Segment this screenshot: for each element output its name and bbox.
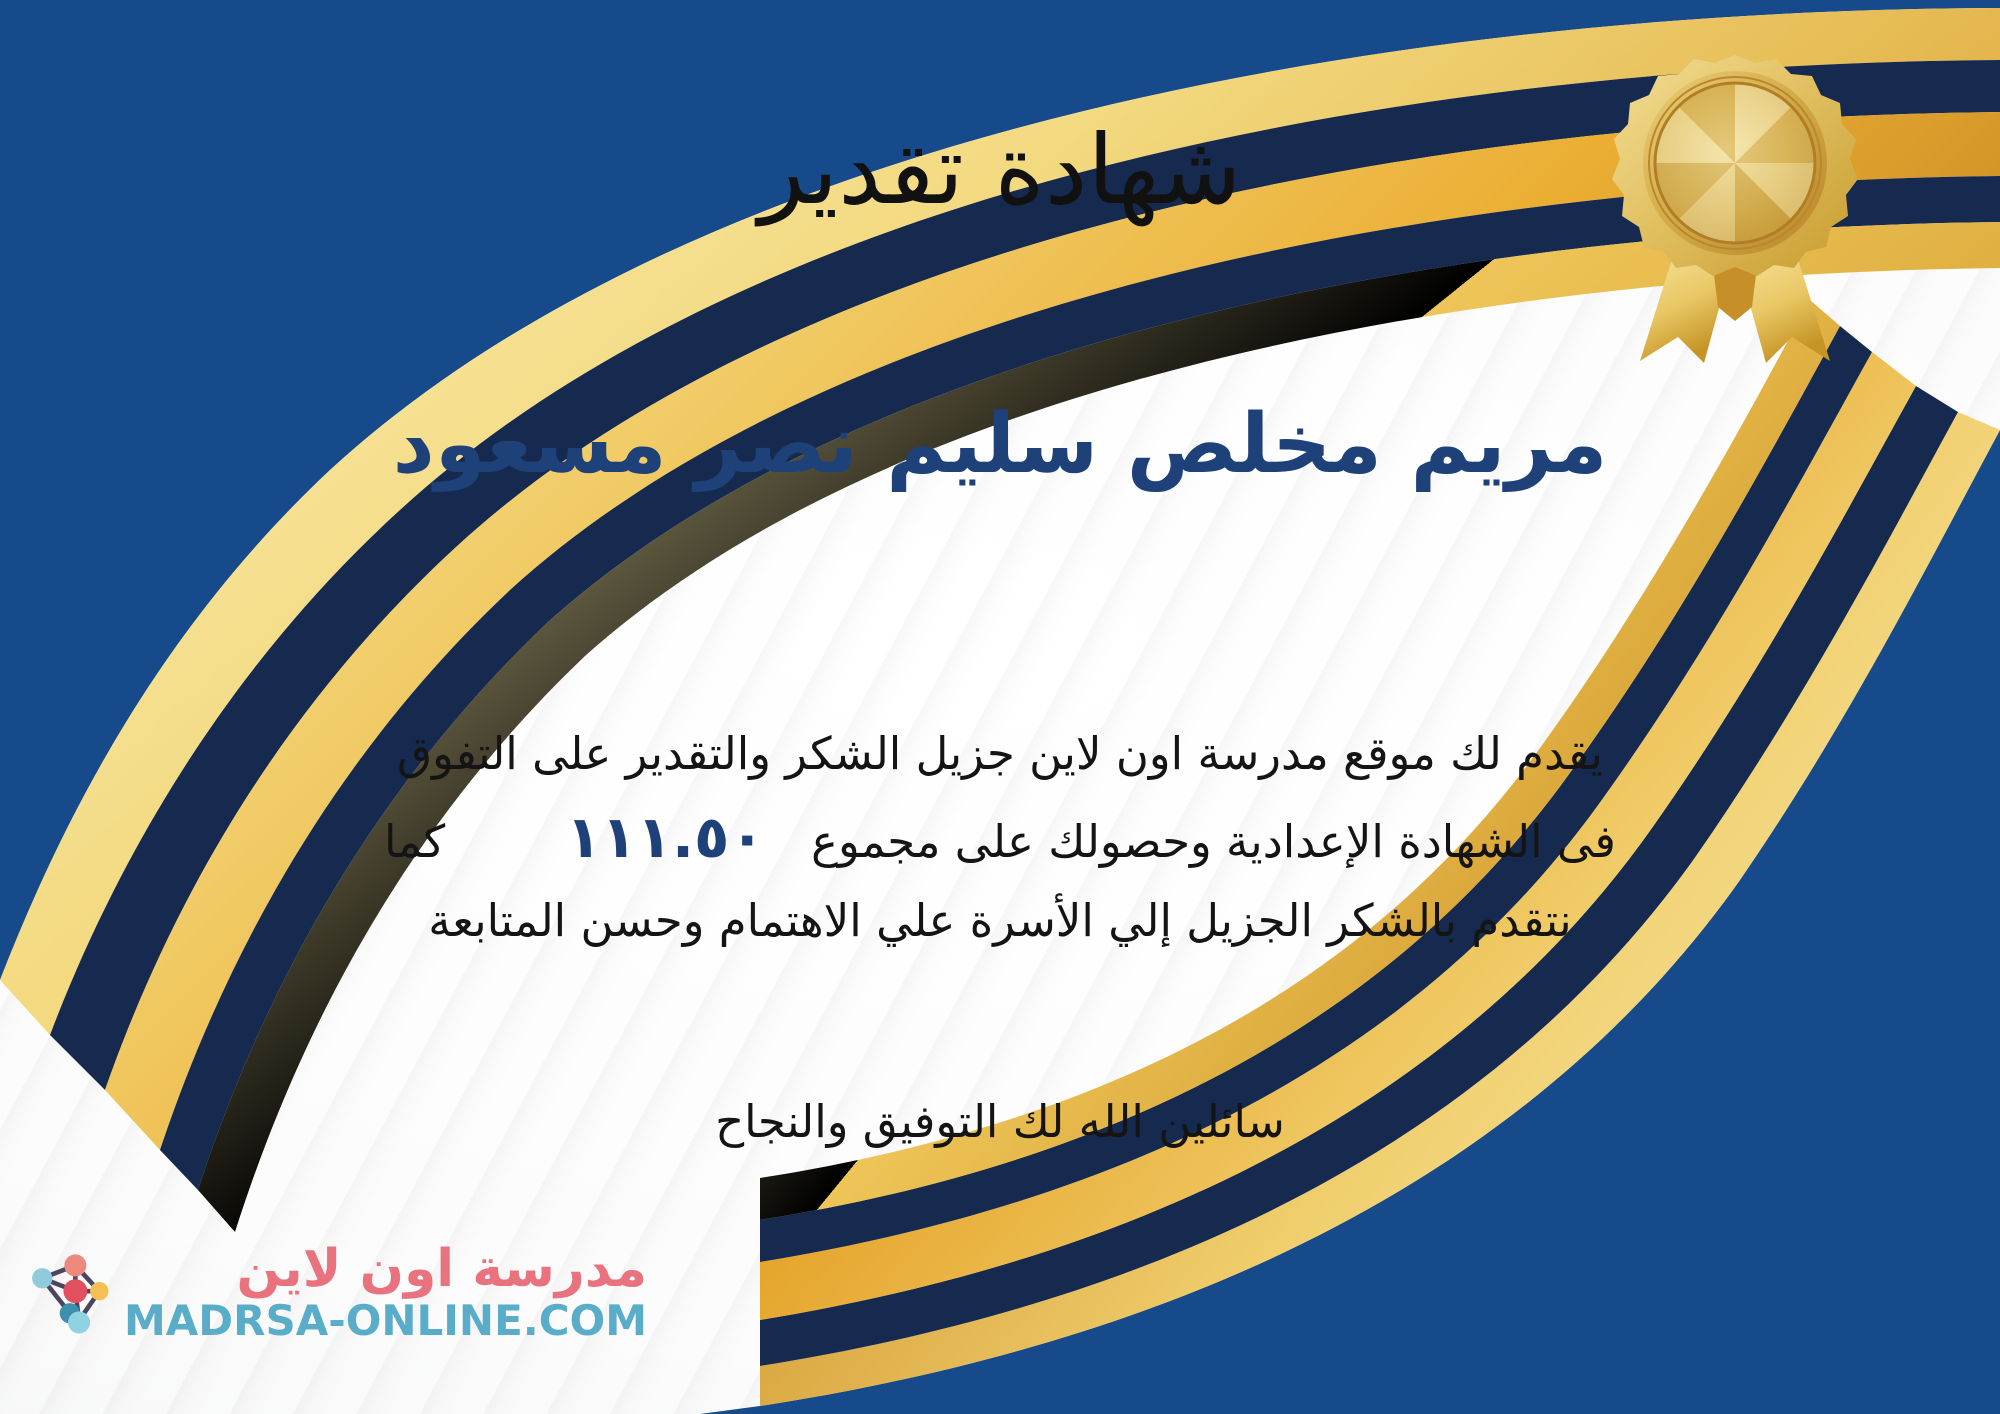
- site-logo[interactable]: مدرسة اون لاين MADRSA-ONLINE.COM: [22, 1243, 647, 1343]
- logo-arabic-name: مدرسة اون لاين: [236, 1243, 647, 1295]
- logo-domain-name: MADRSA-ONLINE.COM: [124, 1299, 647, 1343]
- certificate-title: شهادة تقدير: [0, 118, 2000, 224]
- total-score-value: ١١١.٥٠: [566, 803, 765, 871]
- logo-text-group: مدرسة اون لاين MADRSA-ONLINE.COM: [124, 1243, 647, 1343]
- certificate-page: شهادة تقدير مريم مخلص سليم نصر مسعود يقد…: [0, 0, 2000, 1414]
- body-line-3: نتقدم بالشكر الجزيل إلي الأسرة علي الاهت…: [120, 885, 1880, 958]
- closing-wish-line: سائلين الله لك التوفيق والنجاح: [0, 1095, 2000, 1148]
- body-line-2-suffix: كما: [384, 815, 445, 868]
- medal-ribbon-tails: [1640, 253, 1830, 363]
- body-line-2: فى الشهادة الإعدادية وحصولك على مجموع ١١…: [120, 791, 1880, 885]
- certificate-body: يقدم لك موقع مدرسة اون لاين جزيل الشكر و…: [120, 718, 1880, 958]
- student-name: مريم مخلص سليم نصر مسعود: [0, 398, 2000, 492]
- body-line-2-prefix: فى الشهادة الإعدادية وحصولك على مجموع: [811, 815, 1616, 868]
- body-line-1: يقدم لك موقع مدرسة اون لاين جزيل الشكر و…: [120, 718, 1880, 791]
- network-nodes-icon: [22, 1247, 114, 1339]
